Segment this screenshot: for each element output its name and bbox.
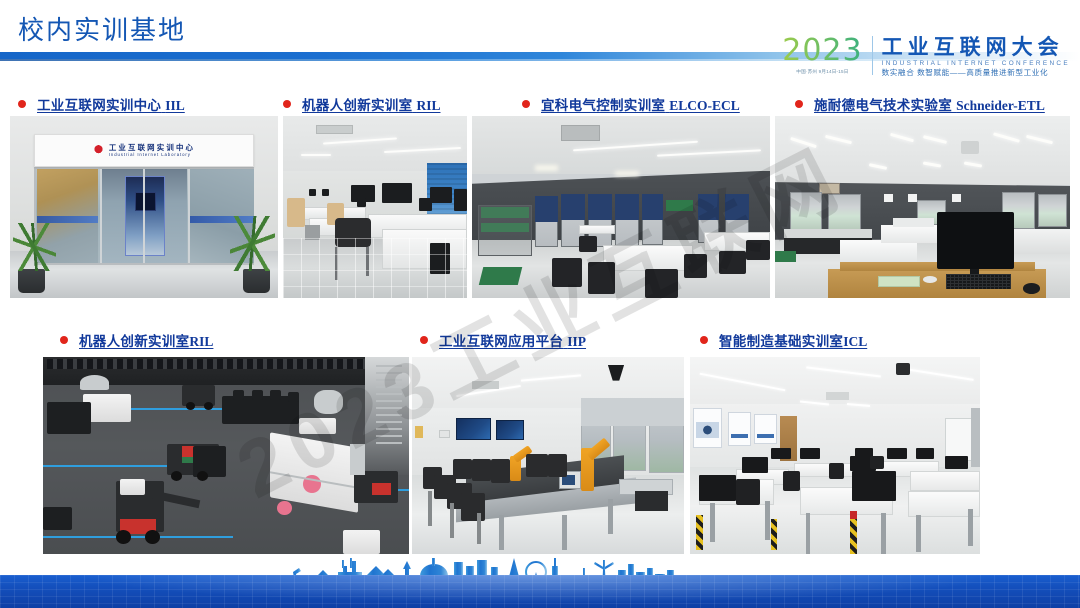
- caption-label: 工业互联网应用平台 IIP: [439, 330, 586, 350]
- logo-year-block: 2023 中国·苏州 9月14日-15日: [782, 36, 872, 75]
- caption-ril: 机器人创新实训室 RIL: [283, 94, 440, 114]
- photo-icl-classroom: [690, 357, 980, 554]
- bullet-icon: [522, 100, 530, 108]
- caption-label: 宜科电气控制实训室 ELCO-ECL: [541, 94, 740, 114]
- logo-year: 2023: [782, 36, 862, 66]
- caption-label: 工业互联网实训中心 IIL: [37, 94, 185, 114]
- logo-name-cn: 工业互联网大会: [882, 36, 1064, 59]
- caption-elco-ecl: 宜科电气控制实训室 ELCO-ECL: [522, 94, 740, 114]
- logo-text-block: 工业互联网大会 INDUSTRIAL INTERNET CONFERENCE 数…: [873, 36, 1070, 78]
- logo-name-en: INDUSTRIAL INTERNET CONFERENCE: [882, 59, 1070, 68]
- logo-date: 中国·苏州 9月14日-15日: [796, 69, 848, 75]
- footer-sheen: [0, 575, 1080, 608]
- photo-elco-ecl-lab: [472, 116, 770, 298]
- caption-iil: 工业互联网实训中心 IIL: [18, 94, 185, 114]
- caption-label: 机器人创新实训室 RIL: [302, 94, 440, 114]
- iil-signboard: 工业互联网实训中心 Industrial Internet Laboratory: [34, 134, 254, 167]
- photo-ril-classroom: [283, 116, 467, 298]
- caption-label: 智能制造基础实训室ICL: [719, 330, 867, 350]
- bullet-icon: [60, 336, 68, 344]
- iil-sign-en: Industrial Internet Laboratory: [109, 152, 195, 158]
- bullet-icon: [700, 336, 708, 344]
- bullet-icon: [283, 100, 291, 108]
- photo-iip-platform: [412, 357, 684, 554]
- maple-leaf-icon: [93, 144, 104, 157]
- logo-slogan: 数实融合 数智赋能——高质量推进新型工业化: [882, 68, 1049, 78]
- caption-ril-big: 机器人创新实训室RIL: [60, 330, 213, 350]
- footer-band: [0, 555, 1080, 608]
- presentation-slide: 校内实训基地 2023 中国·苏州 9月14日-15日 工业互联网大会 INDU…: [0, 0, 1080, 608]
- bullet-icon: [420, 336, 428, 344]
- caption-schneider-etl: 施耐德电气技术实验室 Schneider-ETL: [795, 94, 1045, 114]
- page-title: 校内实训基地: [18, 15, 186, 45]
- caption-iip: 工业互联网应用平台 IIP: [420, 330, 586, 350]
- conference-logo: 2023 中国·苏州 9月14日-15日 工业互联网大会 INDUSTRIAL …: [782, 36, 1070, 86]
- caption-label: 施耐德电气技术实验室 Schneider-ETL: [814, 94, 1045, 114]
- photo-iil-entrance: 工业互联网实训中心 Industrial Internet Laboratory: [10, 116, 278, 298]
- bullet-icon: [795, 100, 803, 108]
- photo-robot-field: [43, 357, 409, 554]
- caption-icl: 智能制造基础实训室ICL: [700, 330, 867, 350]
- bullet-icon: [18, 100, 26, 108]
- caption-label: 机器人创新实训室RIL: [79, 330, 213, 350]
- iil-sign-cn: 工业互联网实训中心: [109, 143, 195, 152]
- photo-schneider-etl-lab: [775, 116, 1070, 298]
